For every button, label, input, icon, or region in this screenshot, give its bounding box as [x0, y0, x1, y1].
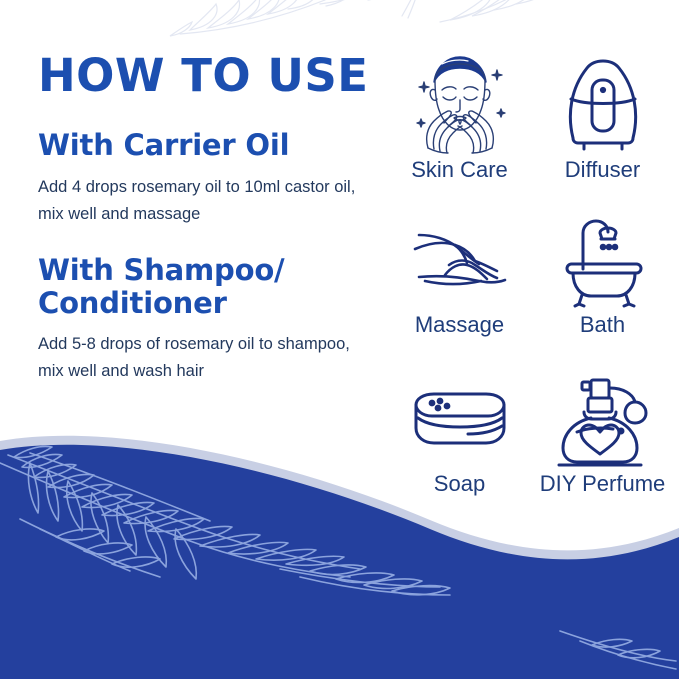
- how-to-use-infographic: HOW TO USE With Carrier Oil Add 4 drops …: [0, 0, 679, 679]
- use-item-label: Massage: [415, 313, 504, 337]
- instruction-block-carrier-oil: With Carrier Oil Add 4 drops rosemary oi…: [38, 129, 388, 228]
- use-item-diy-perfume: DIY Perfume: [535, 378, 670, 541]
- instruction-heading: With Shampoo/ Conditioner: [38, 254, 388, 319]
- soap-icon: [410, 378, 510, 470]
- use-item-massage: Massage: [392, 215, 527, 378]
- use-item-skin-care: Skin Care: [392, 52, 527, 215]
- use-item-soap: Soap: [392, 378, 527, 541]
- instruction-text: Add 5-8 drops of rosemary oil to shampoo…: [38, 331, 358, 385]
- instruction-block-shampoo: With Shampoo/ Conditioner Add 5-8 drops …: [38, 254, 388, 385]
- use-item-label: Diffuser: [565, 158, 640, 182]
- diffuser-icon: [555, 52, 651, 156]
- bath-icon: [553, 215, 653, 311]
- use-item-label: DIY Perfume: [540, 472, 666, 496]
- instruction-text: Add 4 drops rosemary oil to 10ml castor …: [38, 174, 358, 228]
- page-title: HOW TO USE: [38, 52, 388, 99]
- perfume-icon: [551, 378, 655, 470]
- massage-icon: [405, 215, 515, 311]
- top-rosemary-sprig-decoration: [120, 0, 560, 46]
- use-item-label: Skin Care: [411, 158, 508, 182]
- use-item-bath: Bath: [535, 215, 670, 378]
- uses-icon-grid: Skin Care Diffuser: [392, 52, 670, 541]
- use-item-diffuser: Diffuser: [535, 52, 670, 215]
- use-item-label: Soap: [434, 472, 485, 496]
- use-item-label: Bath: [580, 313, 625, 337]
- instruction-heading: With Carrier Oil: [38, 129, 388, 161]
- instructions-column: HOW TO USE With Carrier Oil Add 4 drops …: [38, 52, 388, 386]
- skin-care-icon: [408, 52, 512, 156]
